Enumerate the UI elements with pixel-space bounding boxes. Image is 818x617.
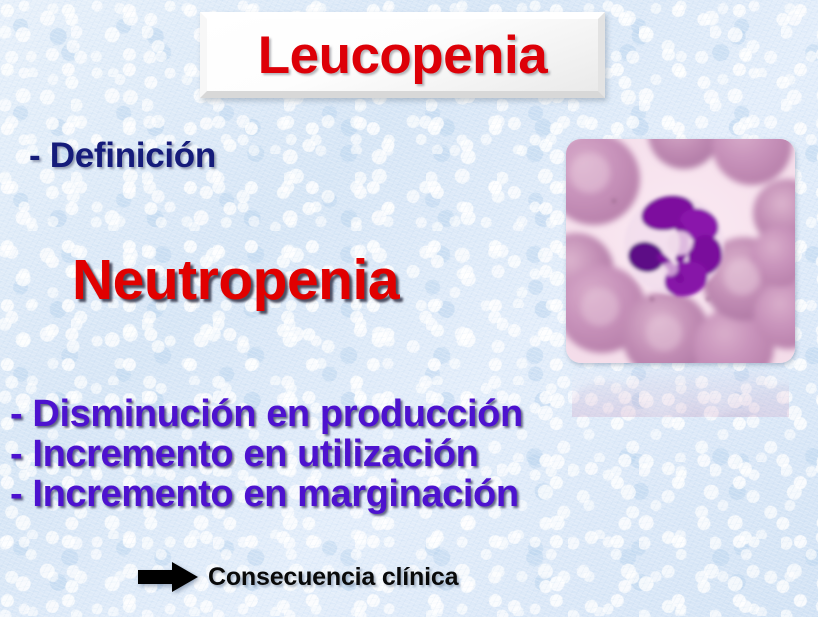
title-box: Leucopenia	[200, 12, 605, 98]
blood-smear-micrograph	[566, 139, 795, 363]
page-title: Leucopenia	[258, 29, 548, 82]
micrograph-figure	[566, 139, 795, 363]
consequence-row: Consecuencia clínica	[138, 562, 458, 592]
list-item: - Incremento en marginación	[10, 476, 700, 513]
definition-heading: - Definición	[29, 136, 216, 176]
right-block-arrow-icon	[138, 562, 198, 592]
highlight-term: Neutropenia	[72, 247, 399, 313]
consequence-label: Consecuencia clínica	[208, 563, 458, 592]
slide-canvas: Leucopenia - Definición Neutropenia - Di…	[0, 0, 818, 617]
micrograph-reflection	[572, 365, 789, 417]
list-item: - Incremento en utilización	[10, 436, 700, 473]
